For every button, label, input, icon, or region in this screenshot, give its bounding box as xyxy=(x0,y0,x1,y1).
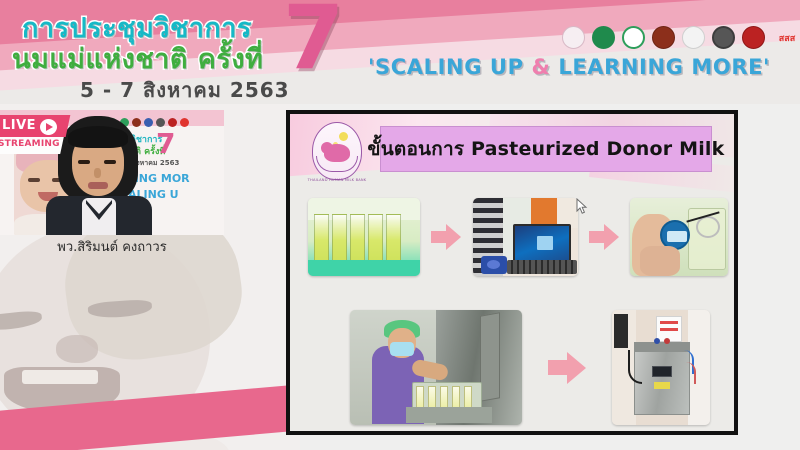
photo-nurse-loading-bottles xyxy=(350,310,522,425)
event-edition-number: 7 xyxy=(283,0,344,82)
slide-title: ขั้นตอนการ Pasteurized Donor Milk xyxy=(368,134,725,164)
process-row-2 xyxy=(350,310,710,425)
live-label: LIVE xyxy=(2,118,36,133)
human-milk-bank-logo: THAILAND HUMAN MILK BANK xyxy=(306,120,368,188)
photo-laptop-workstation xyxy=(473,198,578,276)
live-streaming-badge: LIVE STREAMING xyxy=(0,115,68,155)
live-speaker-video[interactable]: การประชุมวิชาการ นมแม่แห่งชาติ ครั้งที่ … xyxy=(0,110,224,235)
photo-pasteurizer-machine xyxy=(612,310,710,425)
red-seal-logo xyxy=(742,26,765,49)
thaihealth-sss-logo: สสส xyxy=(772,26,800,49)
arrow-right-2 xyxy=(589,224,619,250)
ministry-education-logo xyxy=(682,26,705,49)
slogan-part-2: LEARNING MORE' xyxy=(550,55,770,79)
milk-bank-logo-caption: THAILAND HUMAN MILK BANK xyxy=(304,178,370,182)
national-emblem-logo xyxy=(712,26,735,49)
photo-milk-bottle-racks xyxy=(308,198,420,276)
arrow-right-3 xyxy=(548,352,586,384)
slide-title-banner: ขั้นตอนการ Pasteurized Donor Milk xyxy=(380,126,712,172)
presentation-slide: THAILAND HUMAN MILK BANK ขั้นตอนการ Past… xyxy=(286,110,738,435)
play-icon xyxy=(40,119,57,135)
process-row-1 xyxy=(308,198,728,276)
slogan-part-1: 'SCALING UP xyxy=(368,55,532,79)
thai-health-ministry-logo xyxy=(592,26,615,49)
streaming-label: STREAMING xyxy=(0,139,60,149)
screen-capture: การประชุมวิชาการ นมแม่แห่งชาติ ครั้งที่ … xyxy=(0,0,800,450)
event-date: 5 - 7 สิงหาคม 2563 xyxy=(80,74,290,104)
mouse-cursor xyxy=(576,198,588,215)
department-health-logo xyxy=(622,26,645,49)
photo-hand-thermometer xyxy=(630,198,728,276)
arrow-right-1 xyxy=(431,224,461,250)
royal-patronage-logo xyxy=(562,26,585,49)
organization-logo-row: สสส xyxy=(562,26,800,49)
speaker-name: พว.สิริมนต์ คงถาวร xyxy=(0,236,224,257)
royal-college-logo xyxy=(652,26,675,49)
event-header-banner: การประชุมวิชาการ นมแม่แห่งชาติ ครั้งที่ … xyxy=(0,0,800,104)
poster-edition-number: 7 xyxy=(156,130,175,158)
slogan-ampersand: & xyxy=(532,55,551,79)
event-slogan: 'SCALING UP & LEARNING MORE' xyxy=(368,55,770,79)
